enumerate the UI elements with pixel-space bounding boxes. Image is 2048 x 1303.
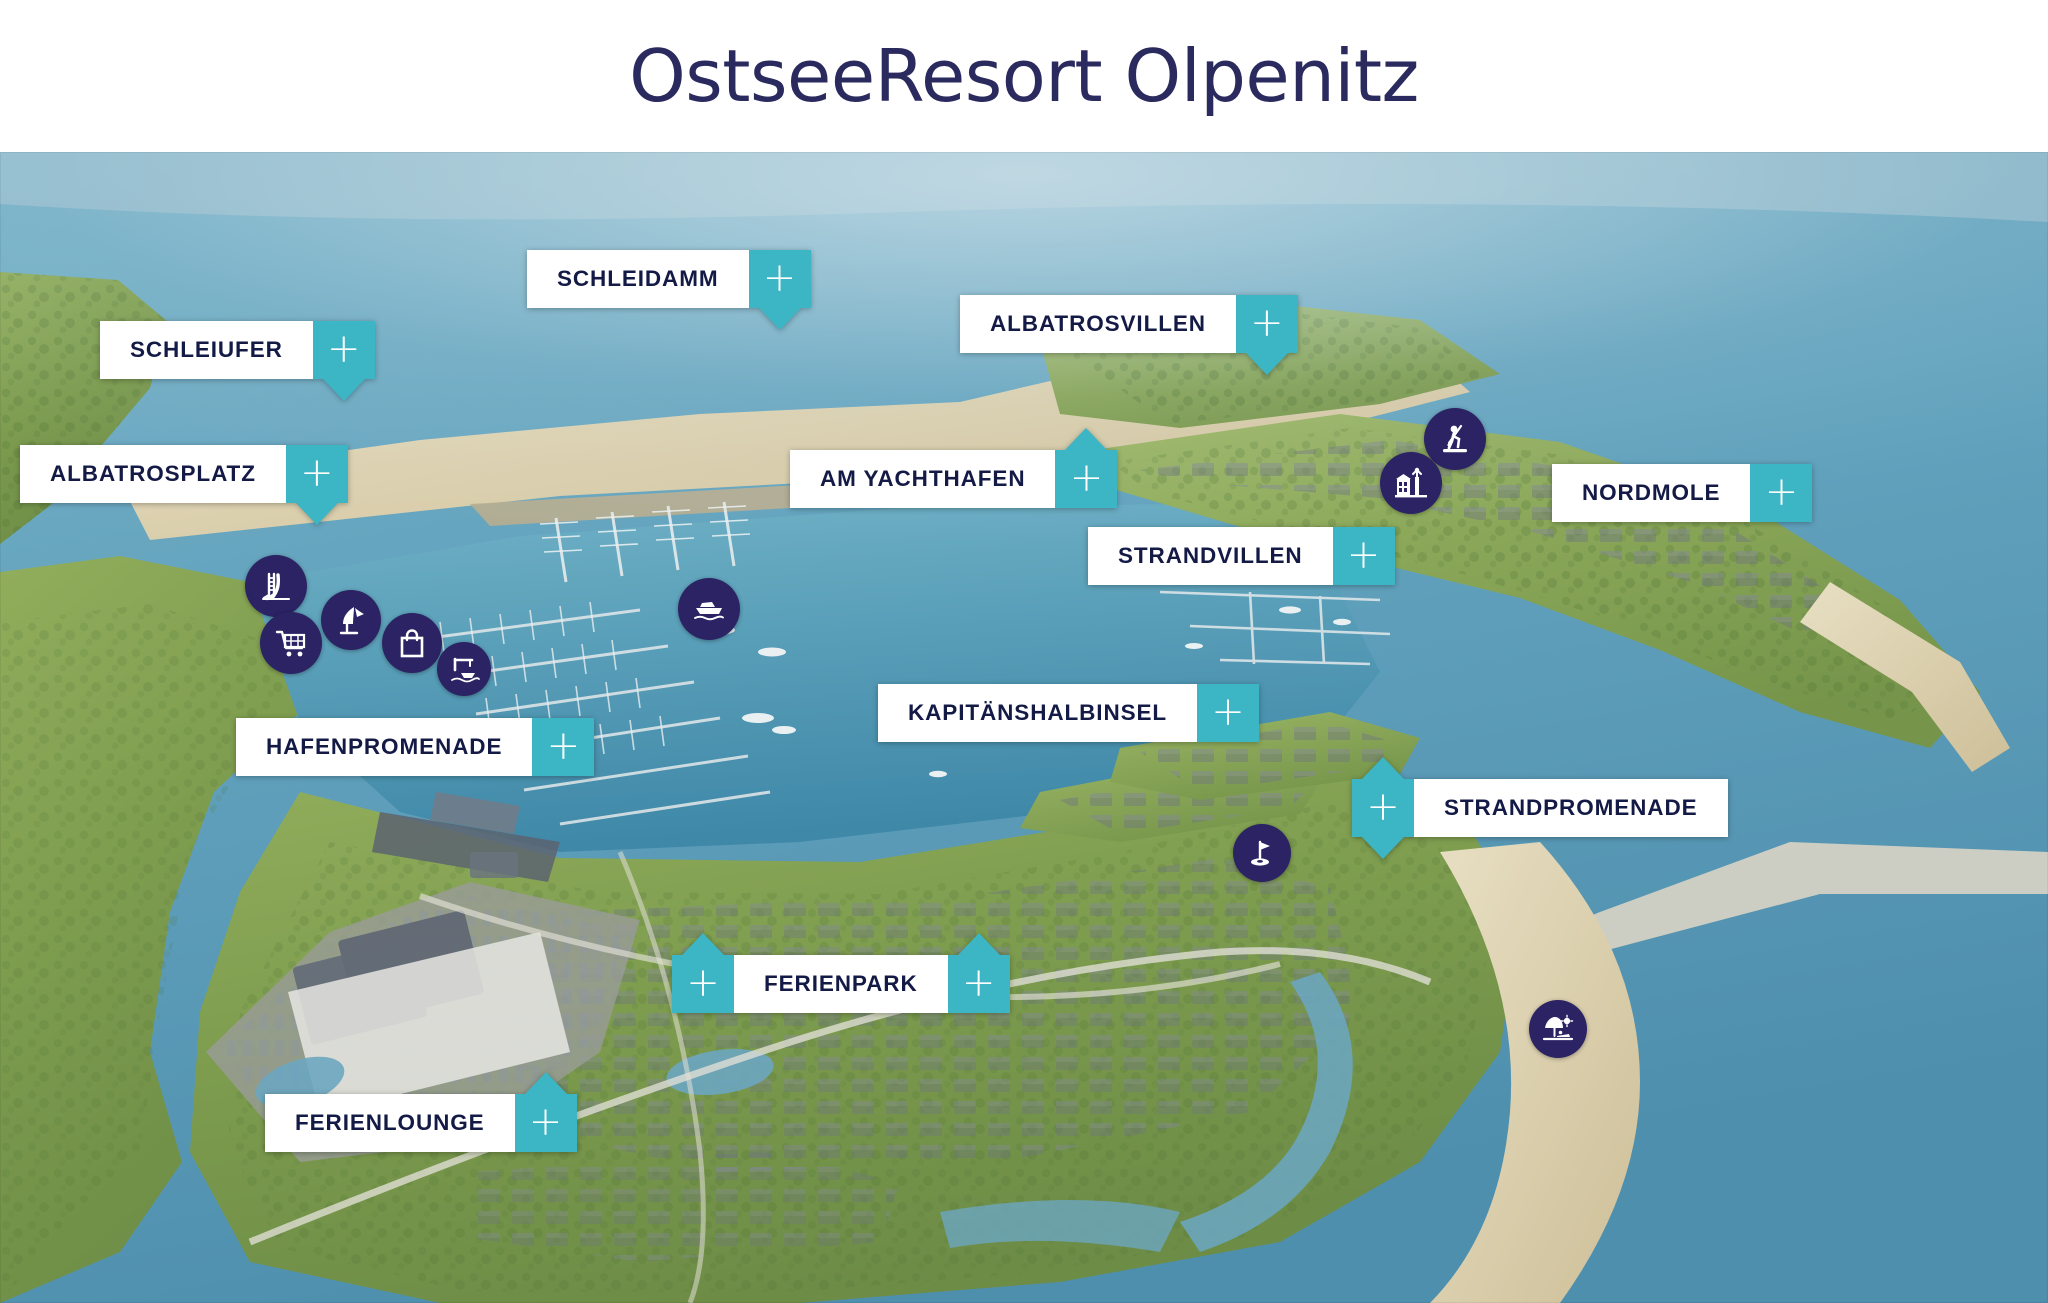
expand-button-am-yachthafen[interactable]: + xyxy=(1055,450,1117,508)
hotspot-hafenpromenade[interactable]: HAFENPROMENADE + xyxy=(236,718,594,776)
hotspot-label-albatrosplatz: ALBATROSPLATZ xyxy=(20,445,286,503)
plus-icon: + xyxy=(686,969,720,997)
plus-icon: + xyxy=(1366,793,1400,821)
hotspot-nordmole[interactable]: NORDMOLE + xyxy=(1552,464,1812,522)
resort-map[interactable]: SCHLEIDAMM + SCHLEIUFER + ALBATROSVILLEN… xyxy=(0,152,2048,1303)
plus-icon: + xyxy=(1211,698,1245,726)
expand-button-schleidamm[interactable]: + xyxy=(749,250,811,308)
hotspot-ferienpark[interactable]: + FERIENPARK + xyxy=(672,955,1010,1013)
poi-sailing[interactable] xyxy=(321,590,381,650)
expand-button-nordmole[interactable]: + xyxy=(1750,464,1812,522)
page-title: OstseeResort Olpenitz xyxy=(0,0,2048,152)
waterslide-icon xyxy=(258,568,294,604)
sail-icon xyxy=(334,603,368,637)
shopping-cart-icon xyxy=(273,625,309,661)
expand-button-schleiufer[interactable]: + xyxy=(313,321,375,379)
expand-button-albatrosplatz[interactable]: + xyxy=(286,445,348,503)
hotspot-label-schleidamm: SCHLEIDAMM xyxy=(527,250,749,308)
hotspot-schleidamm[interactable]: SCHLEIDAMM + xyxy=(527,250,811,308)
hotspot-kapitaenshalbinsel[interactable]: KAPITÄNSHALBINSEL + xyxy=(878,684,1259,742)
poi-shopping[interactable] xyxy=(260,612,322,674)
paddleboard-icon xyxy=(1437,421,1473,457)
hotspot-label-schleiufer: SCHLEIUFER xyxy=(100,321,313,379)
plus-icon: + xyxy=(327,335,361,363)
plus-icon: + xyxy=(300,459,334,487)
boat-lift-icon xyxy=(448,653,480,685)
harbour-icon xyxy=(1393,465,1429,501)
plus-icon: + xyxy=(1070,464,1104,492)
plus-icon: + xyxy=(547,732,581,760)
hotspot-label-kapitaenshalbinsel: KAPITÄNSHALBINSEL xyxy=(878,684,1197,742)
golf-flag-icon xyxy=(1245,836,1279,870)
poi-shopping-bag[interactable] xyxy=(382,613,442,673)
plus-icon: + xyxy=(1250,309,1284,337)
expand-button-albatrosvillen[interactable]: + xyxy=(1236,295,1298,353)
hotspot-am-yachthafen[interactable]: AM YACHTHAFEN + xyxy=(790,450,1117,508)
plus-icon: + xyxy=(1765,478,1799,506)
expand-button-kapitaenshalbinsel[interactable]: + xyxy=(1197,684,1259,742)
poi-waterslide[interactable] xyxy=(245,555,307,617)
hotspot-strandpromenade[interactable]: STRANDPROMENADE + xyxy=(1352,779,1728,837)
motorboat-icon xyxy=(691,591,727,627)
expand-button-ferienlounge[interactable]: + xyxy=(515,1094,577,1152)
hotspot-label-albatrosvillen: ALBATROSVILLEN xyxy=(960,295,1236,353)
hotspot-label-strandpromenade: STRANDPROMENADE xyxy=(1414,779,1728,837)
hotspot-strandvillen[interactable]: STRANDVILLEN + xyxy=(1088,527,1395,585)
expand-button-hafenpromenade[interactable]: + xyxy=(532,718,594,776)
hotspot-label-ferienlounge: FERIENLOUNGE xyxy=(265,1094,515,1152)
poi-golf[interactable] xyxy=(1233,824,1291,882)
poi-harbour-building[interactable] xyxy=(1380,452,1442,514)
hotspot-label-nordmole: NORDMOLE xyxy=(1552,464,1750,522)
hotspot-schleiufer[interactable]: SCHLEIUFER + xyxy=(100,321,375,379)
poi-motorboat[interactable] xyxy=(678,578,740,640)
hotspot-label-strandvillen: STRANDVILLEN xyxy=(1088,527,1333,585)
beach-umbrella-icon xyxy=(1541,1012,1575,1046)
hotspot-albatrosplatz[interactable]: ALBATROSPLATZ + xyxy=(20,445,348,503)
plus-icon: + xyxy=(763,264,797,292)
poi-boat-lift[interactable] xyxy=(437,642,491,696)
hotspot-label-ferienpark: FERIENPARK xyxy=(734,955,948,1013)
plus-icon: + xyxy=(529,1108,563,1136)
hotspot-label-am-yachthafen: AM YACHTHAFEN xyxy=(790,450,1055,508)
shopping-bag-icon xyxy=(395,626,429,660)
hotspot-albatrosvillen[interactable]: ALBATROSVILLEN + xyxy=(960,295,1298,353)
expand-button-strandvillen[interactable]: + xyxy=(1333,527,1395,585)
expand-button-ferienpark-right[interactable]: + xyxy=(948,955,1010,1013)
expand-button-strandpromenade[interactable]: + xyxy=(1352,779,1414,837)
plus-icon: + xyxy=(962,969,996,997)
expand-button-ferienpark-left[interactable]: + xyxy=(672,955,734,1013)
hotspot-label-hafenpromenade: HAFENPROMENADE xyxy=(236,718,532,776)
plus-icon: + xyxy=(1347,541,1381,569)
poi-beach[interactable] xyxy=(1529,1000,1587,1058)
hotspot-ferienlounge[interactable]: FERIENLOUNGE + xyxy=(265,1094,577,1152)
